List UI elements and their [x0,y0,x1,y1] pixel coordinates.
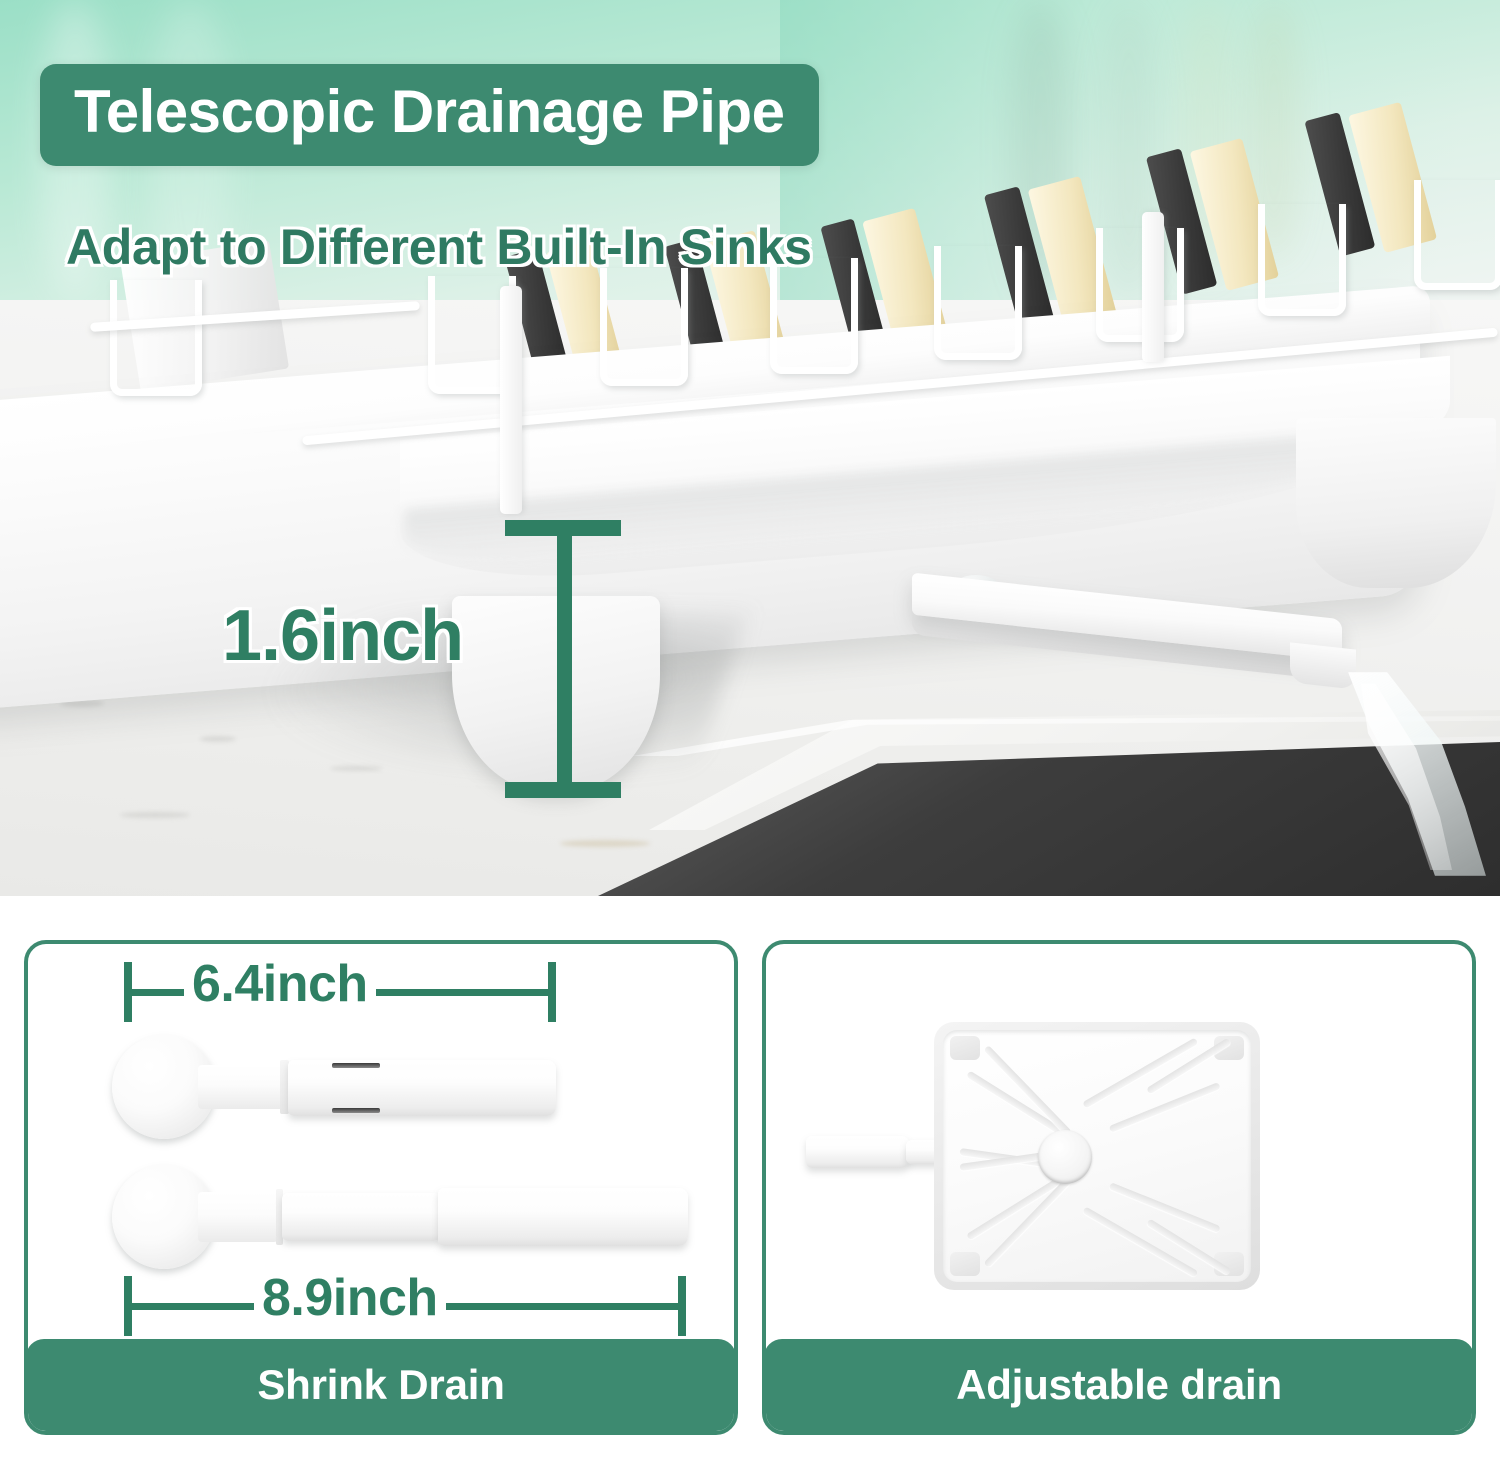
panel-label-shrink-drain: Shrink Drain [26,1339,736,1431]
height-measurement-bar [505,520,621,798]
tray-corner [950,1036,980,1060]
drain-tray-top-view [934,1022,1260,1290]
panel-label-text: Adjustable drain [956,1361,1282,1409]
pipe-tube-outer [438,1188,688,1246]
pipe-tube [288,1060,556,1116]
spout-tip [1290,642,1356,689]
pipe-tube-inner [282,1193,442,1241]
rack-support-post [500,286,522,514]
rack-wire-divider [1258,204,1346,316]
pipe-extended [112,1162,692,1272]
rack-wire-divider [600,268,688,386]
page-subtitle: Adapt to Different Built-In Sinks [66,218,812,276]
height-measurement-label: 1.6inch [222,595,463,677]
pipe-neck [198,1192,278,1242]
counter-speck [560,840,650,847]
measure-stem [557,528,572,790]
counter-speck [120,812,190,818]
rack-wire-divider [1096,228,1184,342]
title-badge: Telescopic Drainage Pipe [40,64,819,166]
hero-product-photo: 1.6inch Telescopic Drainage Pipe Adapt t… [0,0,1500,896]
rack-wire-divider [110,280,202,396]
drain-hole [1038,1130,1092,1184]
pipe-slot [332,1063,380,1068]
pipe-tube-outer [806,1136,910,1168]
panel-shrink-drain: 6.4inch [24,940,738,1435]
rack-support-post [1142,212,1164,362]
infographic-page: 1.6inch Telescopic Drainage Pipe Adapt t… [0,0,1500,1481]
dimension-label: 6.4inch [184,954,376,1014]
counter-speck [200,736,236,742]
dimension-8-9inch: 8.9inch [124,1276,686,1336]
tray-corner [950,1252,980,1276]
measure-cap-bottom [505,782,621,798]
panel-label-adjustable-drain: Adjustable drain [764,1339,1474,1431]
feature-panels: 6.4inch [0,940,1500,1481]
rack-wire-divider [934,246,1022,360]
dimension-6-4inch: 6.4inch [124,962,556,1022]
page-title: Telescopic Drainage Pipe [74,82,785,142]
panel-adjustable-drain: Adjustable drain [762,940,1476,1435]
rack-wire-divider [1414,180,1500,290]
panel-label-text: Shrink Drain [257,1361,504,1409]
pipe-neck [198,1065,284,1109]
dimension-label: 8.9inch [254,1268,446,1328]
pipe-slot [332,1108,380,1113]
pipe-retracted [112,1032,562,1142]
